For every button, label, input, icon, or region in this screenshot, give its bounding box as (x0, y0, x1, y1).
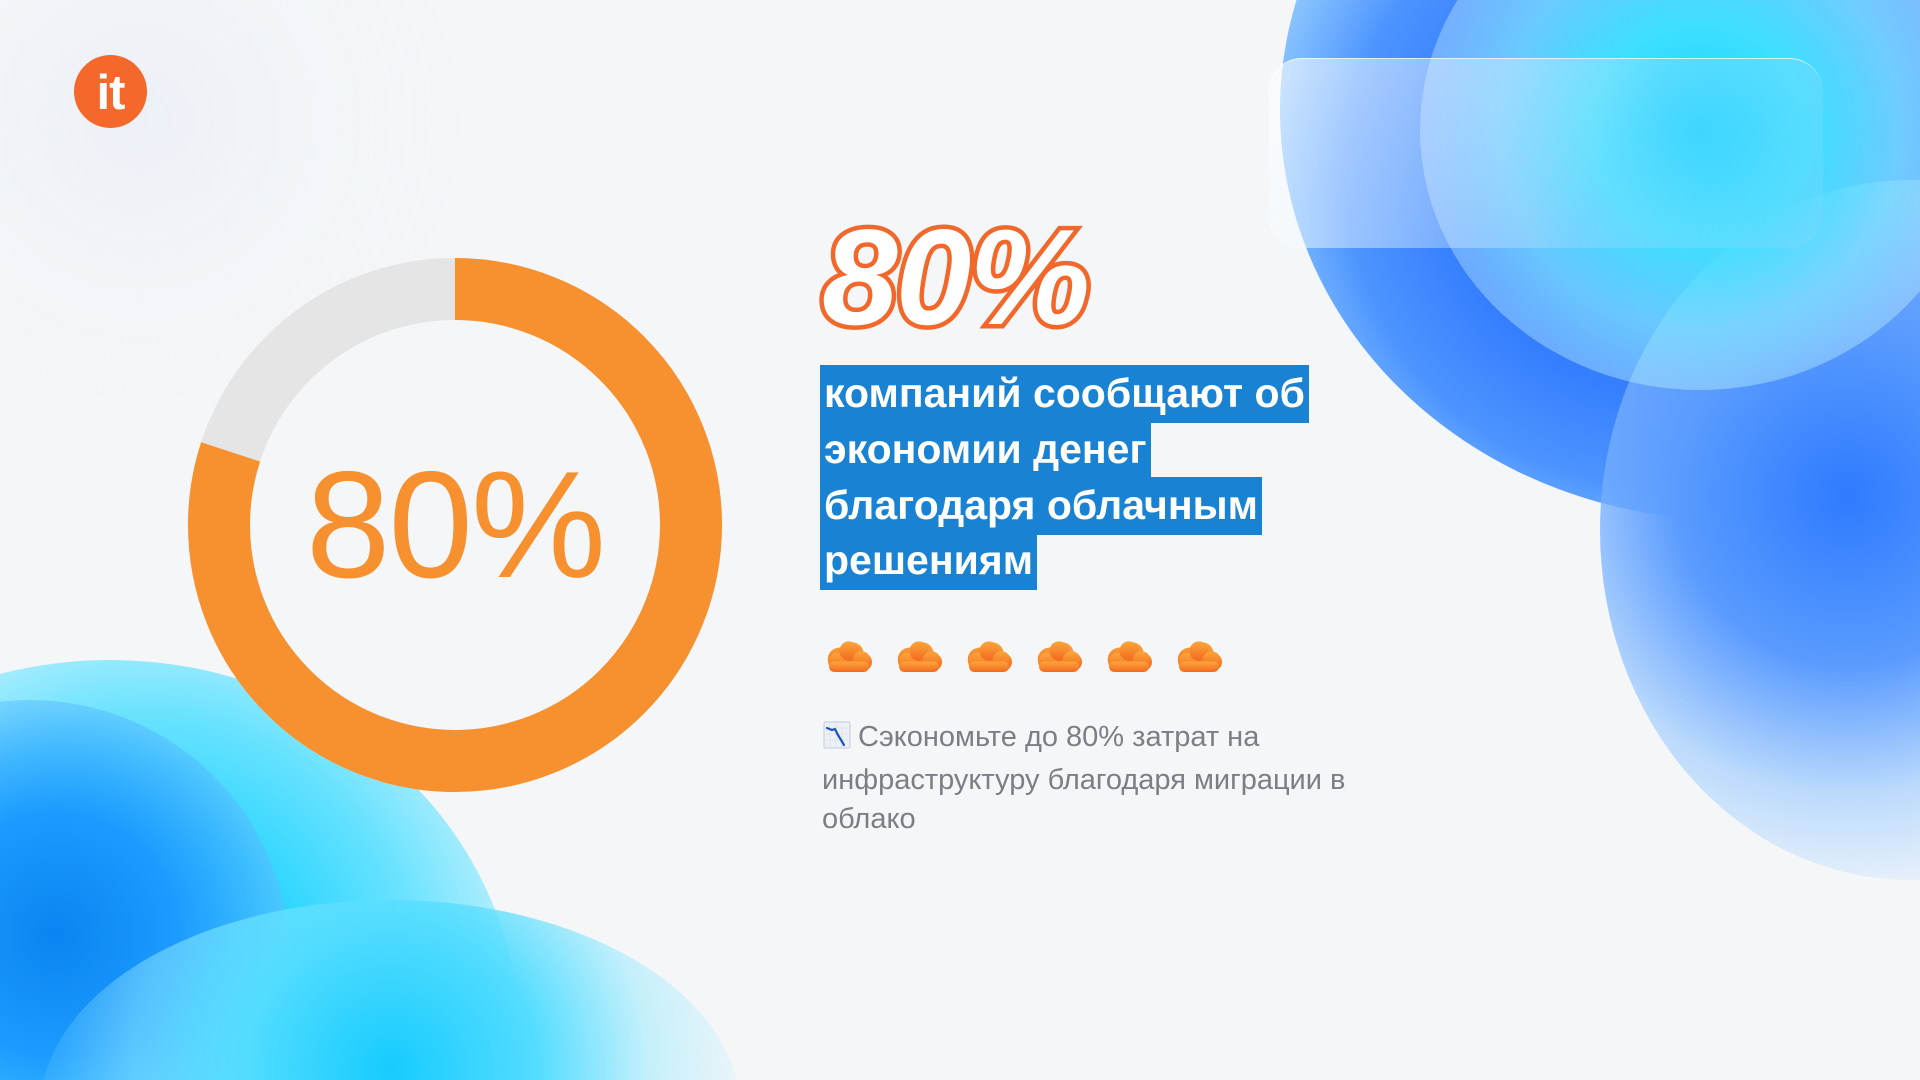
cloud-icon (1032, 633, 1086, 678)
headline-line-text: компаний сообщают об (822, 367, 1307, 421)
cloud-icon (892, 633, 946, 678)
cloud-icon (822, 633, 876, 678)
headline-body: компаний сообщают об экономии денег благ… (822, 366, 1482, 589)
headline-line-text: экономии денег (822, 423, 1149, 477)
headline-percent: 80% (822, 215, 1582, 340)
headline-line: экономии денег (822, 422, 1482, 478)
logo-label: it (97, 69, 125, 118)
donut-chart: 80% (160, 230, 750, 820)
headline-line: решениям (822, 533, 1482, 589)
cloud-icon (1172, 633, 1226, 678)
cloud-icon (1102, 633, 1156, 678)
cloud-icon (962, 633, 1016, 678)
it-circle-logo: it (74, 55, 147, 128)
caption: Сэкономьте до 80% затрат на инфраструкту… (822, 718, 1402, 839)
chart-decreasing-icon (822, 720, 852, 761)
caption-text: Сэкономьте до 80% затрат на инфраструкту… (822, 721, 1345, 835)
headline-line-text: решениям (822, 534, 1035, 588)
donut-center-value: 80% (160, 230, 750, 820)
content-column: 80% компаний сообщают об экономии денег … (822, 215, 1582, 840)
cloud-icon-row (822, 633, 1582, 678)
headline-line-text: благодаря облачным (822, 479, 1260, 533)
headline-line: компаний сообщают об (822, 366, 1482, 422)
headline-line: благодаря облачным (822, 478, 1482, 534)
